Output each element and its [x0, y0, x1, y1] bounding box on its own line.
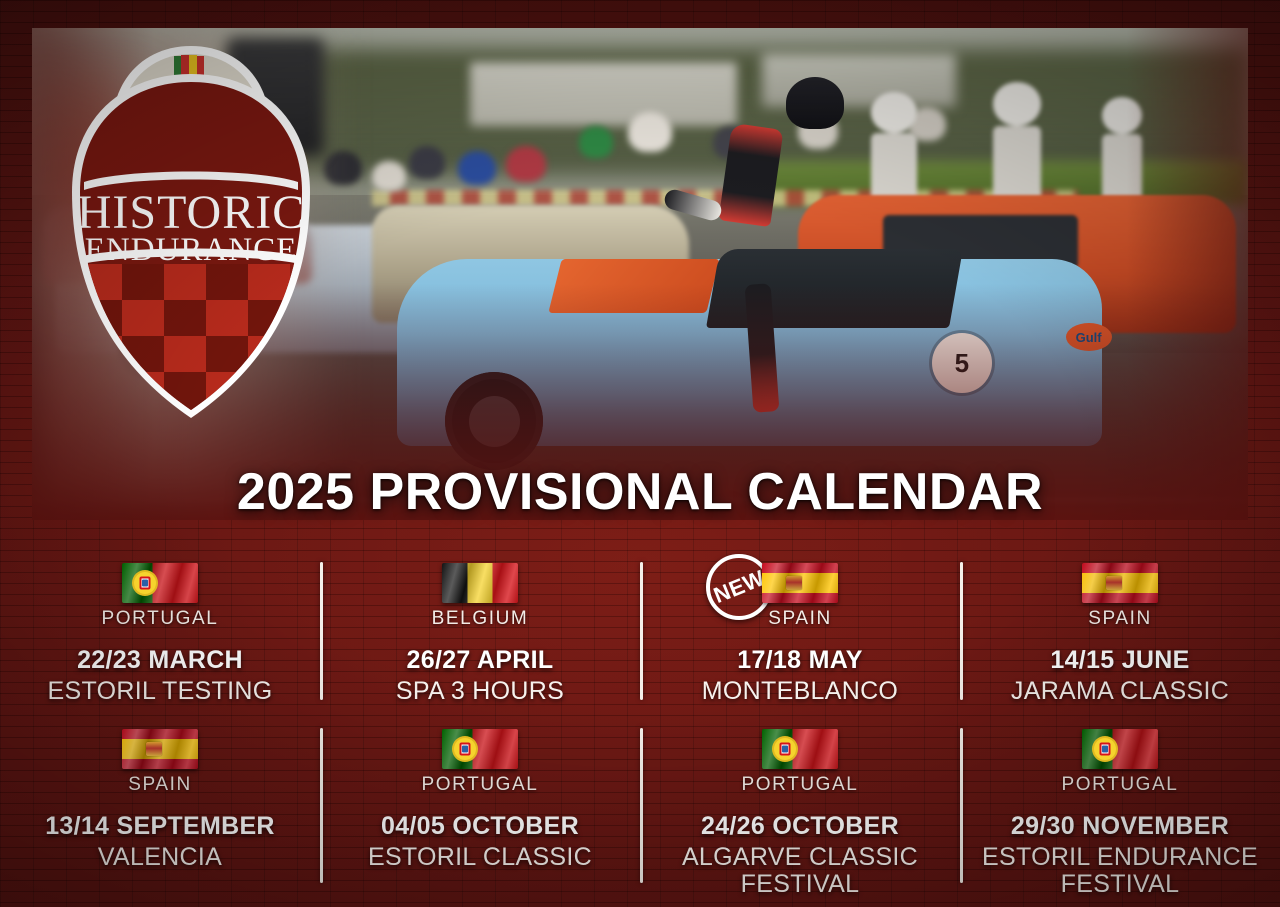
event-country: SPAIN	[128, 774, 192, 796]
page-title: 2025 PROVISIONAL CALENDAR	[0, 462, 1280, 522]
event-name: ESTORIL CLASSIC	[368, 844, 592, 871]
event-dates: 17/18 MAY	[737, 646, 862, 675]
event-dates: 04/05 OCTOBER	[381, 812, 579, 841]
photo-building	[470, 62, 738, 126]
event-name: SPA 3 HOURS	[396, 678, 564, 705]
event-dates: 14/15 JUNE	[1050, 646, 1189, 675]
photo-driver-helmet	[786, 77, 844, 129]
event-country: PORTUGAL	[1062, 774, 1179, 796]
flag-belgium-icon	[442, 563, 518, 603]
event-dates: 29/30 NOVEMBER	[1011, 812, 1229, 841]
event-country: PORTUGAL	[742, 774, 859, 796]
flag-spain-icon	[1082, 563, 1158, 603]
event-country: PORTUGAL	[102, 608, 219, 630]
photo-helmet-crowd	[506, 146, 546, 182]
calendar-poster: 5 Gulf	[0, 0, 1280, 907]
calendar-event-estoril-classic[interactable]: PORTUGAL 04/05 OCTOBER ESTORIL CLASSIC	[320, 714, 640, 897]
event-country: BELGIUM	[432, 608, 529, 630]
event-dates: 13/14 SEPTEMBER	[45, 812, 275, 841]
photo-gulf-logo: Gulf	[1066, 323, 1112, 351]
flag-wrap: NEW	[762, 562, 838, 604]
photo-helmet-crowd	[579, 126, 613, 158]
calendar-grid: PORTUGAL 22/23 MARCH ESTORIL TESTING BEL…	[0, 548, 1280, 897]
flag-wrap	[122, 728, 198, 770]
event-name: ESTORIL ENDURANCE FESTIVAL	[982, 844, 1258, 897]
flag-wrap	[762, 728, 838, 770]
photo-marshal	[1102, 97, 1142, 205]
logo-text-endurance: ENDURANCE	[85, 232, 298, 268]
event-dates: 22/23 MARCH	[77, 646, 243, 675]
event-dates: 24/26 OCTOBER	[701, 812, 899, 841]
flag-wrap	[122, 562, 198, 604]
photo-gt40-roundel: 5	[932, 333, 992, 393]
flag-wrap	[1082, 562, 1158, 604]
calendar-event-estoril-testing[interactable]: PORTUGAL 22/23 MARCH ESTORIL TESTING	[0, 548, 320, 714]
new-badge-label: NEW	[710, 567, 767, 607]
event-country: SPAIN	[1088, 608, 1152, 630]
logo-svg: HISTORIC ENDURANCE	[66, 32, 316, 422]
calendar-event-spa-3-hours[interactable]: BELGIUM 26/27 APRIL SPA 3 HOURS	[320, 548, 640, 714]
event-country: SPAIN	[768, 608, 832, 630]
event-dates: 26/27 APRIL	[407, 646, 554, 675]
flag-portugal-icon	[1082, 729, 1158, 769]
flag-wrap	[442, 562, 518, 604]
calendar-event-valencia[interactable]: SPAIN 13/14 SEPTEMBER VALENCIA	[0, 714, 320, 897]
flag-portugal-icon	[762, 729, 838, 769]
calendar-event-algarve-classic-festival[interactable]: PORTUGAL 24/26 OCTOBER ALGARVE CLASSIC F…	[640, 714, 960, 897]
event-name: MONTEBLANCO	[702, 678, 898, 705]
calendar-event-estoril-endurance-festival[interactable]: PORTUGAL 29/30 NOVEMBER ESTORIL ENDURANC…	[960, 714, 1280, 897]
event-name: ALGARVE CLASSIC FESTIVAL	[682, 844, 918, 897]
calendar-event-jarama-classic[interactable]: SPAIN 14/15 JUNE JARAMA CLASSIC	[960, 548, 1280, 714]
photo-helmet-crowd	[628, 112, 672, 152]
calendar-row: PORTUGAL 22/23 MARCH ESTORIL TESTING BEL…	[0, 548, 1280, 714]
flag-wrap	[442, 728, 518, 770]
event-name: ESTORIL TESTING	[48, 678, 273, 705]
photo-helmet-crowd	[372, 161, 406, 191]
event-name: VALENCIA	[98, 844, 222, 871]
historic-endurance-logo: HISTORIC ENDURANCE	[66, 32, 316, 422]
photo-marshal	[871, 92, 917, 212]
calendar-event-monteblanco[interactable]: NEW SPAIN 17/18 MAY MONTEBLANCO	[640, 548, 960, 714]
photo-helmet-crowd	[409, 146, 445, 179]
photo-gt40-orange-stripe	[548, 259, 720, 313]
flag-wrap	[1082, 728, 1158, 770]
event-country: PORTUGAL	[422, 774, 539, 796]
flag-spain-icon	[122, 729, 198, 769]
photo-helmet-crowd	[458, 151, 496, 185]
event-name: JARAMA CLASSIC	[1011, 678, 1229, 705]
photo-marshal	[993, 82, 1041, 210]
flag-portugal-icon	[442, 729, 518, 769]
calendar-row: SPAIN 13/14 SEPTEMBER VALENCIA PORTUGAL …	[0, 714, 1280, 897]
flag-portugal-icon	[122, 563, 198, 603]
flag-spain-icon	[762, 563, 838, 603]
